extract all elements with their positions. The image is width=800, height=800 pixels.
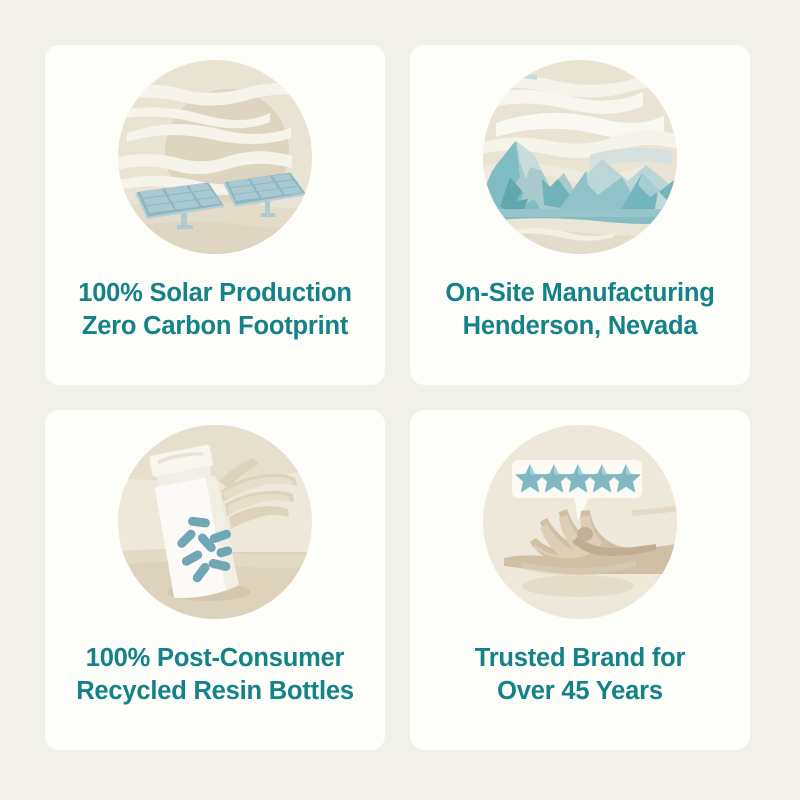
pill-bottle-illustration — [117, 424, 313, 620]
caption-line-2: Zero Carbon Footprint — [78, 310, 352, 343]
caption-line-1: 100% Post-Consumer — [76, 642, 354, 675]
solar-panels-illustration — [117, 59, 313, 255]
value-prop-grid: 100% Solar Production Zero Carbon Footpr… — [0, 0, 800, 800]
caption-line-2: Henderson, Nevada — [445, 310, 714, 343]
caption-line-1: 100% Solar Production — [78, 277, 352, 310]
caption-line-1: Trusted Brand for — [475, 642, 686, 675]
caption-line-2: Over 45 Years — [475, 675, 686, 708]
card-trusted-brand[interactable]: Trusted Brand for Over 45 Years — [410, 410, 750, 750]
card-on-site-manufacturing[interactable]: On-Site Manufacturing Henderson, Nevada — [410, 45, 750, 385]
card-caption: On-Site Manufacturing Henderson, Nevada — [437, 277, 722, 343]
caption-line-2: Recycled Resin Bottles — [76, 675, 354, 708]
card-caption: Trusted Brand for Over 45 Years — [467, 642, 694, 708]
card-caption: 100% Post-Consumer Recycled Resin Bottle… — [68, 642, 362, 708]
card-recycled-resin[interactable]: 100% Post-Consumer Recycled Resin Bottle… — [45, 410, 385, 750]
mountain-landscape-illustration — [482, 59, 678, 255]
hand-five-stars-illustration — [482, 424, 678, 620]
card-solar-production[interactable]: 100% Solar Production Zero Carbon Footpr… — [45, 45, 385, 385]
caption-line-1: On-Site Manufacturing — [445, 277, 714, 310]
card-caption: 100% Solar Production Zero Carbon Footpr… — [70, 277, 360, 343]
